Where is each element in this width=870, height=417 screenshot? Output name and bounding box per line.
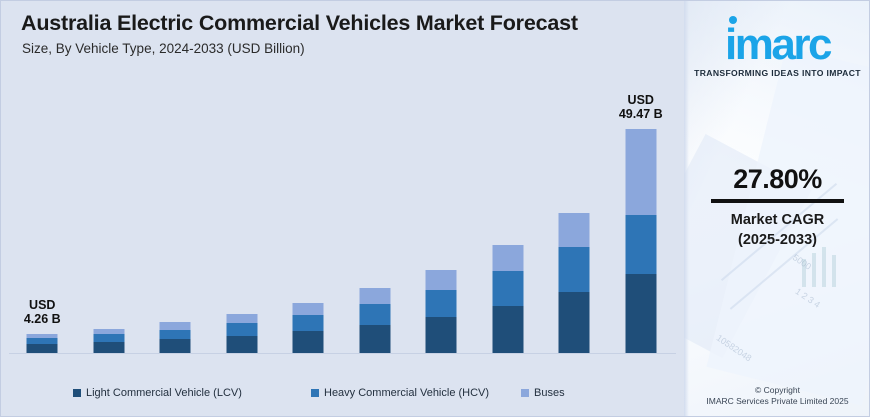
bar-segment (625, 274, 656, 353)
bar-segment (93, 342, 124, 353)
bar-segment (226, 323, 257, 336)
bar-segment (160, 322, 191, 329)
legend-swatch-icon (311, 389, 319, 397)
copyright-line-2: IMARC Services Private Limited 2025 (684, 396, 870, 407)
bar-segment (160, 330, 191, 340)
bar-segment (293, 331, 324, 353)
background-bar (832, 255, 836, 287)
bar-segment (625, 215, 656, 274)
bar-segment (93, 334, 124, 342)
background-bar (822, 247, 826, 287)
logo-wordmark: imarc (725, 23, 830, 67)
bar-segment (226, 314, 257, 323)
bar-segment (492, 271, 523, 306)
logo-tagline: TRANSFORMING IDEAS INTO IMPACT (684, 68, 870, 78)
bar-stack (426, 270, 457, 353)
bar-segment (625, 129, 656, 214)
bar-segment (359, 304, 390, 325)
copyright-block: © Copyright IMARC Services Private Limit… (684, 385, 870, 407)
plot-area: 2024USD4.26 B202520262027202820292030203… (1, 1, 684, 417)
bar-segment (293, 303, 324, 315)
brand-panel: 1 2 3 4 10582048 5000 imarc TRANSFORMING… (684, 1, 870, 417)
bar-segment (293, 315, 324, 331)
bar-stack (359, 288, 390, 353)
bar-stack (293, 303, 324, 353)
bar-stack (93, 329, 124, 353)
chart-panel: Australia Electric Commercial Vehicles M… (1, 1, 684, 417)
legend-swatch-icon (73, 389, 81, 397)
legend-label: Light Commercial Vehicle (LCV) (86, 387, 242, 399)
legend-label: Heavy Commercial Vehicle (HCV) (324, 387, 489, 399)
bar-stack (625, 129, 656, 353)
value-annotation-2024: USD4.26 B (24, 298, 61, 326)
bar-segment (160, 339, 191, 353)
bar-segment (426, 317, 457, 353)
cagr-divider (711, 199, 844, 203)
cagr-label: Market CAGR (684, 210, 870, 230)
bar-stack (559, 213, 590, 353)
bar-segment (559, 247, 590, 292)
bar-segment (426, 270, 457, 290)
background-bar (812, 253, 816, 287)
bar-segment (492, 245, 523, 271)
value-label-unit: USD (24, 298, 61, 312)
copyright-line-1: © Copyright (684, 385, 870, 396)
legend-label: Buses (534, 387, 565, 399)
bar-segment (492, 306, 523, 353)
bar-stack (492, 245, 523, 353)
bar-segment (559, 292, 590, 353)
legend-item[interactable]: Buses (521, 387, 565, 399)
logo-text: imarc (725, 20, 830, 69)
legend-item[interactable]: Light Commercial Vehicle (LCV) (73, 387, 242, 399)
axis-baseline (9, 353, 676, 354)
logo-dot-icon (729, 16, 737, 24)
value-label-amount: 4.26 B (24, 312, 61, 326)
bar-stack (226, 314, 257, 353)
legend-swatch-icon (521, 389, 529, 397)
bar-segment (426, 290, 457, 317)
bar-segment (27, 344, 58, 353)
value-label-unit: USD (619, 93, 663, 107)
cagr-block: 27.80% Market CAGR (2025-2033) (684, 164, 870, 250)
bar-segment (359, 325, 390, 353)
legend-item[interactable]: Heavy Commercial Vehicle (HCV) (311, 387, 489, 399)
imarc-logo: imarc TRANSFORMING IDEAS INTO IMPACT (684, 23, 870, 78)
value-annotation-2033: USD49.47 B (619, 93, 663, 121)
value-label-amount: 49.47 B (619, 107, 663, 121)
bar-segment (559, 213, 590, 247)
chart-figure: Australia Electric Commercial Vehicles M… (0, 0, 870, 417)
bar-segment (226, 336, 257, 353)
bar-segment (359, 288, 390, 303)
bar-stack (160, 322, 191, 353)
cagr-period: (2025-2033) (684, 230, 870, 250)
cagr-value: 27.80% (684, 164, 870, 194)
bar-stack (27, 334, 58, 353)
chart-legend: Light Commercial Vehicle (LCV)Heavy Comm… (1, 387, 684, 409)
